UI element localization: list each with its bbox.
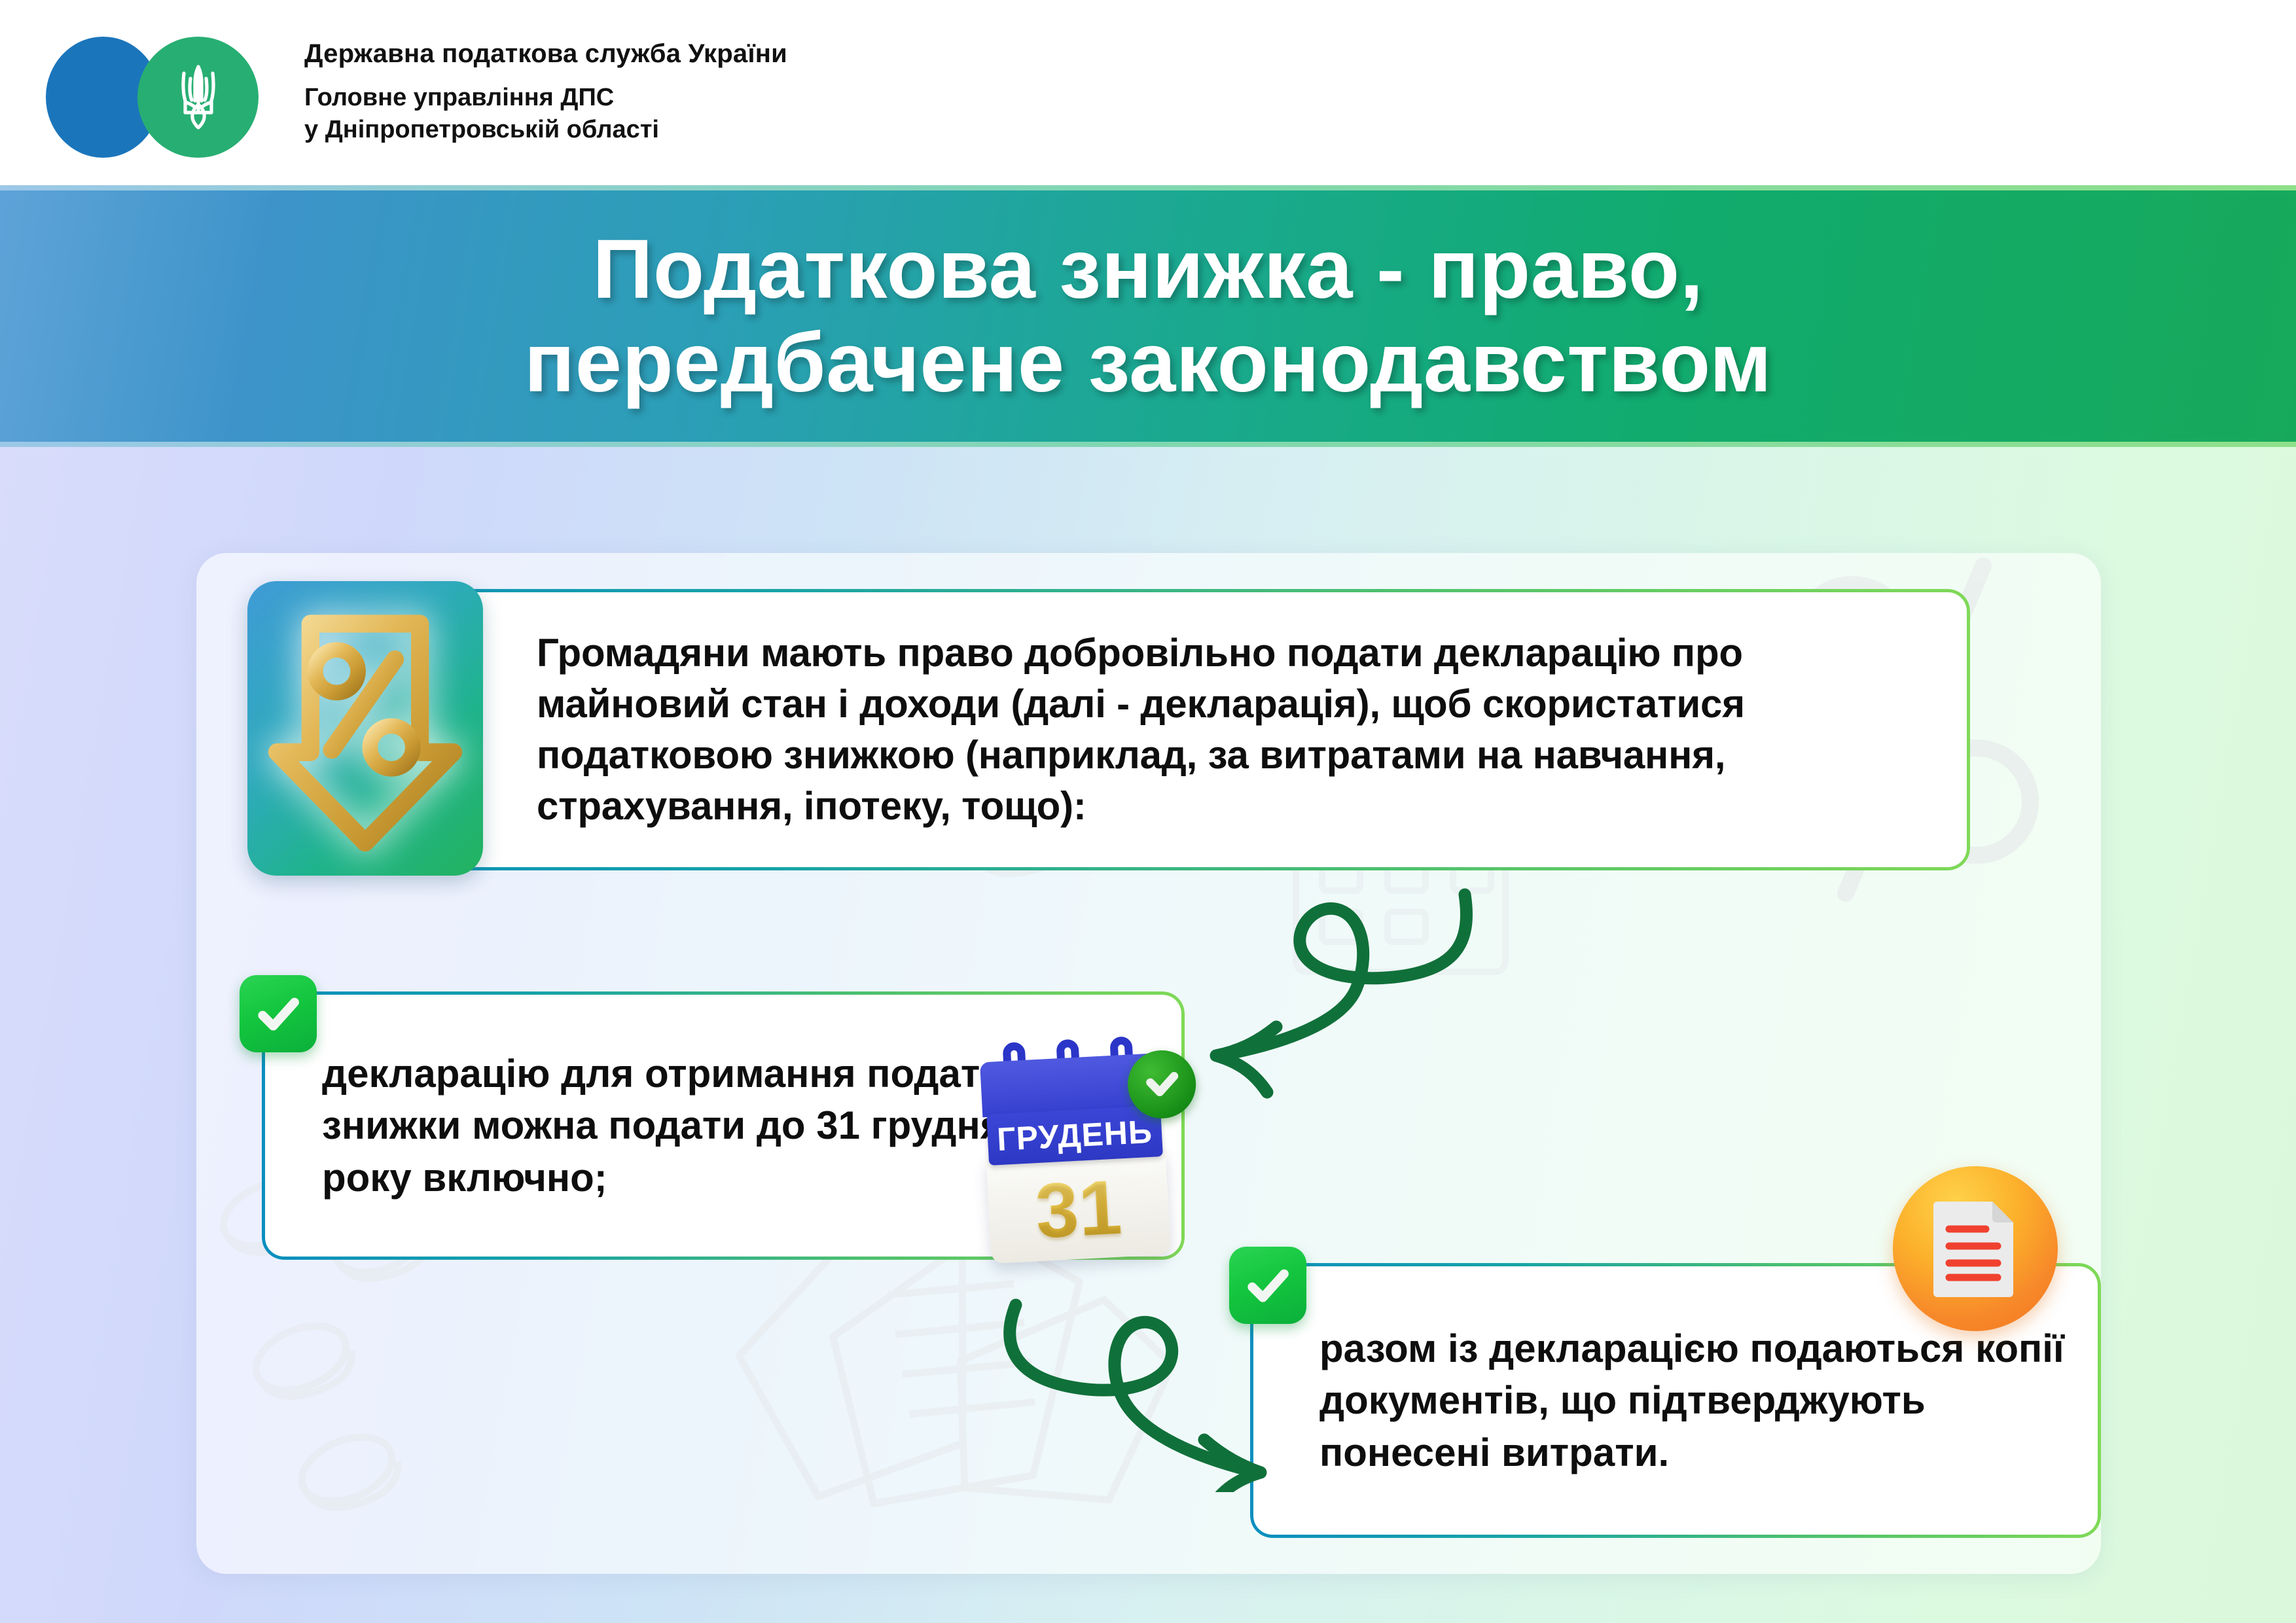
banner-bottom-edge bbox=[0, 442, 2296, 447]
page-title-line1: Податкова знижка - право, bbox=[592, 223, 1703, 316]
org-title-block: Державна податкова служба України Головн… bbox=[304, 40, 787, 145]
org-name: Державна податкова служба України bbox=[304, 40, 787, 67]
page-title-line2: передбачене законодавством bbox=[524, 316, 1772, 410]
calendar-day-number: 31 bbox=[1033, 1169, 1123, 1251]
calendar-month-label: ГРУДЕНЬ bbox=[996, 1113, 1153, 1158]
gold-percent-down-arrow-icon bbox=[247, 581, 483, 876]
calendar-day-area: 31 bbox=[986, 1150, 1171, 1264]
title-banner: Податкова знижка - право, передбачене за… bbox=[0, 185, 2296, 447]
logo-green-ellipse bbox=[137, 37, 259, 158]
info-card-1: Громадяни мають право добровільно подати… bbox=[262, 589, 1970, 870]
calendar-month-band: ГРУДЕНЬ bbox=[986, 1105, 1163, 1166]
banner-top-edge bbox=[0, 185, 2296, 190]
org-department-line1: Головне управління ДПС bbox=[304, 82, 787, 114]
page-title: Податкова знижка - право, передбачене за… bbox=[485, 223, 1811, 410]
org-header-bar: Державна податкова служба України Головн… bbox=[0, 0, 2296, 185]
org-logo bbox=[39, 27, 298, 158]
org-department-line2: у Дніпропетровській області bbox=[304, 114, 787, 146]
green-check-badge-icon bbox=[240, 975, 317, 1052]
card-3-text: разом із декларацією подаються копії док… bbox=[1319, 1323, 2077, 1478]
calendar-illustration: ГРУДЕНЬ 31 bbox=[969, 1034, 1183, 1260]
ukraine-trident-icon bbox=[175, 63, 222, 132]
card-1-text: Громадяни мають право добровільно подати… bbox=[537, 628, 1933, 832]
green-check-badge-icon bbox=[1229, 1247, 1306, 1324]
document-lines-icon bbox=[1893, 1166, 2058, 1331]
